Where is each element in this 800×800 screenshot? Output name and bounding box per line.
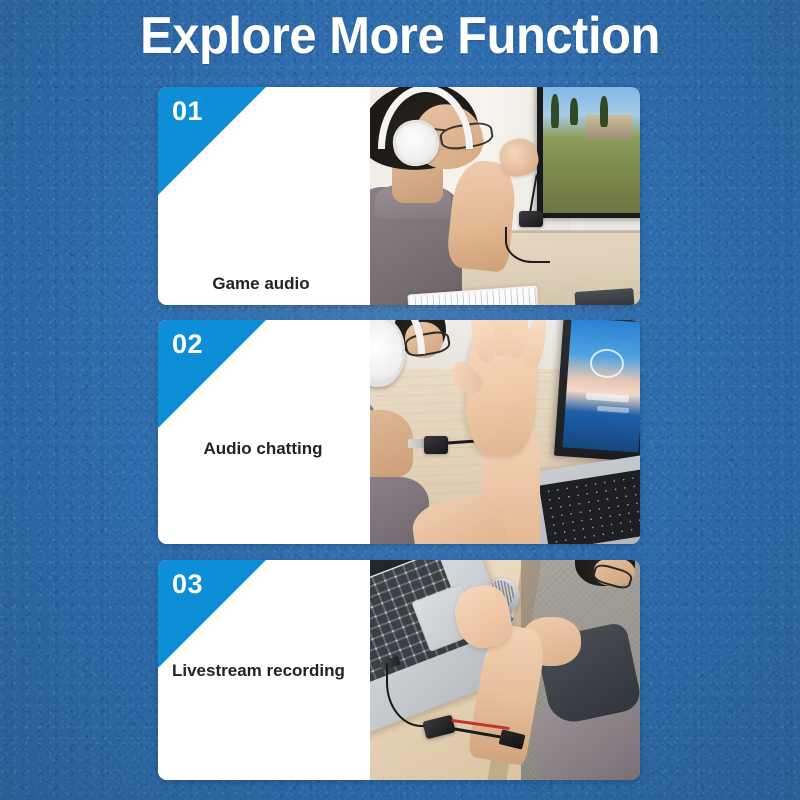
feature-card-3-label: Livestream recording <box>158 660 370 682</box>
photo-laptop-screen <box>563 320 640 452</box>
feature-card-1[interactable]: 01 Game audio <box>158 87 640 305</box>
photo-game-tree <box>551 94 559 128</box>
feature-card-2-label: Audio chatting <box>158 438 370 460</box>
feature-card-1-number: 01 <box>172 96 203 126</box>
feature-card-3-text-panel: 03 Livestream recording <box>158 560 370 780</box>
infographic-canvas: Explore More Function 01 Game audio <box>0 0 800 800</box>
feature-card-2-number: 02 <box>172 329 203 359</box>
feature-card-2[interactable]: 02 Audio chatting <box>158 320 640 544</box>
photo-usb-audio-adapter <box>519 211 543 226</box>
feature-card-3-photo <box>370 560 640 780</box>
photo-game-building <box>586 115 632 139</box>
photo-game-tree <box>570 98 578 125</box>
feature-card-1-label: Game audio <box>158 273 370 295</box>
feature-card-3[interactable]: 03 Livestream recording <box>158 560 640 780</box>
feature-card-2-text-panel: 02 Audio chatting <box>158 320 370 544</box>
photo-usb-audio-adapter <box>424 436 448 454</box>
feature-card-3-number: 03 <box>172 569 203 599</box>
photo-game-tree <box>600 96 608 127</box>
feature-card-2-photo <box>370 320 640 544</box>
feature-card-1-text-panel: 01 Game audio <box>158 87 370 305</box>
photo-laptop-keys <box>539 470 640 544</box>
page-title: Explore More Function <box>24 6 776 66</box>
feature-card-1-photo <box>370 87 640 305</box>
